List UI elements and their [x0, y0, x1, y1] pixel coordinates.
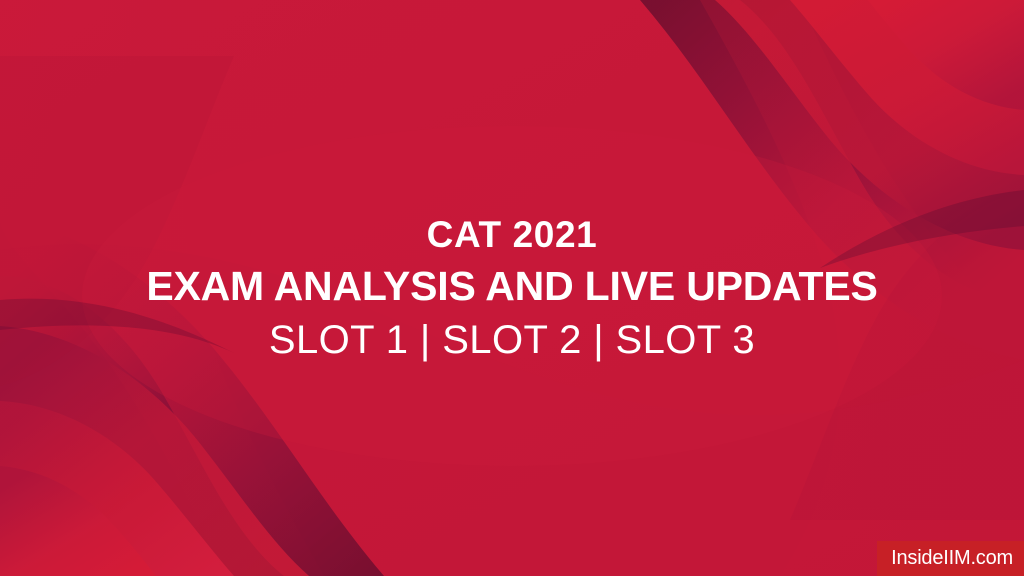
insideiim-logo-badge[interactable]: InsideIIM.com: [877, 541, 1024, 576]
insideiim-logo-text: InsideIIM.com: [891, 548, 1013, 568]
cat-2021-banner: CAT 2021 EXAM ANALYSIS AND LIVE UPDATES …: [0, 0, 1024, 576]
abstract-wave-background: [0, 0, 1024, 576]
